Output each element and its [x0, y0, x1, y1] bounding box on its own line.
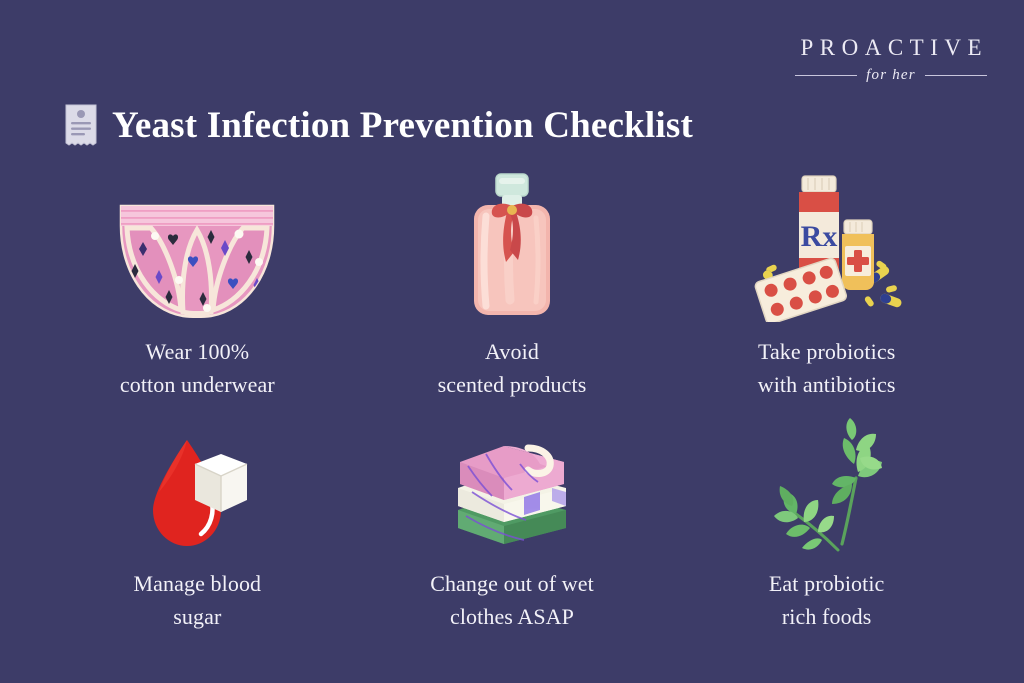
- caption-line-1: Change out of wet: [430, 571, 594, 596]
- caption-line-2: sugar: [133, 601, 261, 634]
- caption-line-1: Manage blood: [133, 571, 261, 596]
- checklist-caption: Change out of wet clothes ASAP: [430, 568, 594, 633]
- checklist-item: Change out of wet clothes ASAP: [355, 402, 670, 634]
- brand-tagline-row: for her: [776, 67, 1006, 84]
- caption-line-2: cotton underwear: [120, 369, 275, 402]
- page-title: Yeast Infection Prevention Checklist: [112, 104, 693, 147]
- checklist-caption: Wear 100% cotton underwear: [120, 336, 275, 401]
- checklist-item: Eat probiotic rich foods: [669, 402, 984, 634]
- infographic-canvas: PROACTIVE for her Yeast Infection Preven…: [0, 0, 1024, 683]
- checklist-caption: Avoid scented products: [438, 336, 587, 401]
- logo-rule-left: [795, 75, 857, 76]
- caption-line-1: Eat probiotic: [769, 571, 885, 596]
- caption-line-1: Take probiotics: [758, 339, 895, 364]
- checklist-caption: Take probiotics with antibiotics: [758, 336, 896, 401]
- checklist-item: Rx: [669, 170, 984, 402]
- page-title-row: Yeast Infection Prevention Checklist: [64, 103, 693, 147]
- medicine-bottles-icon: Rx: [744, 170, 909, 322]
- caption-line-1: Wear 100%: [146, 339, 250, 364]
- checklist-grid: Wear 100% cotton underwear: [40, 170, 984, 634]
- svg-text:Rx: Rx: [801, 220, 838, 253]
- perfume-bottle-icon: [452, 170, 572, 322]
- caption-line-2: rich foods: [769, 601, 885, 634]
- checklist-item: Avoid scented products: [355, 170, 670, 402]
- brand-tagline: for her: [866, 67, 916, 84]
- brand-name: PROACTIVE: [776, 36, 1006, 60]
- logo-rule-right: [925, 75, 987, 76]
- checklist-item: Manage blood sugar: [40, 402, 355, 634]
- checklist-caption: Manage blood sugar: [133, 568, 261, 633]
- underwear-icon: [107, 170, 287, 322]
- checklist-item: Wear 100% cotton underwear: [40, 170, 355, 402]
- caption-line-2: with antibiotics: [758, 369, 896, 402]
- caption-line-2: scented products: [438, 369, 587, 402]
- receipt-icon: [64, 103, 98, 147]
- herb-leaves-icon: [762, 402, 892, 554]
- checklist-caption: Eat probiotic rich foods: [769, 568, 885, 633]
- blood-drop-sugar-cube-icon: [137, 402, 257, 554]
- caption-line-2: clothes ASAP: [430, 601, 594, 634]
- folded-clothes-stack-icon: [442, 402, 582, 554]
- brand-logo: PROACTIVE for her: [776, 36, 1006, 84]
- caption-line-1: Avoid: [485, 339, 539, 364]
